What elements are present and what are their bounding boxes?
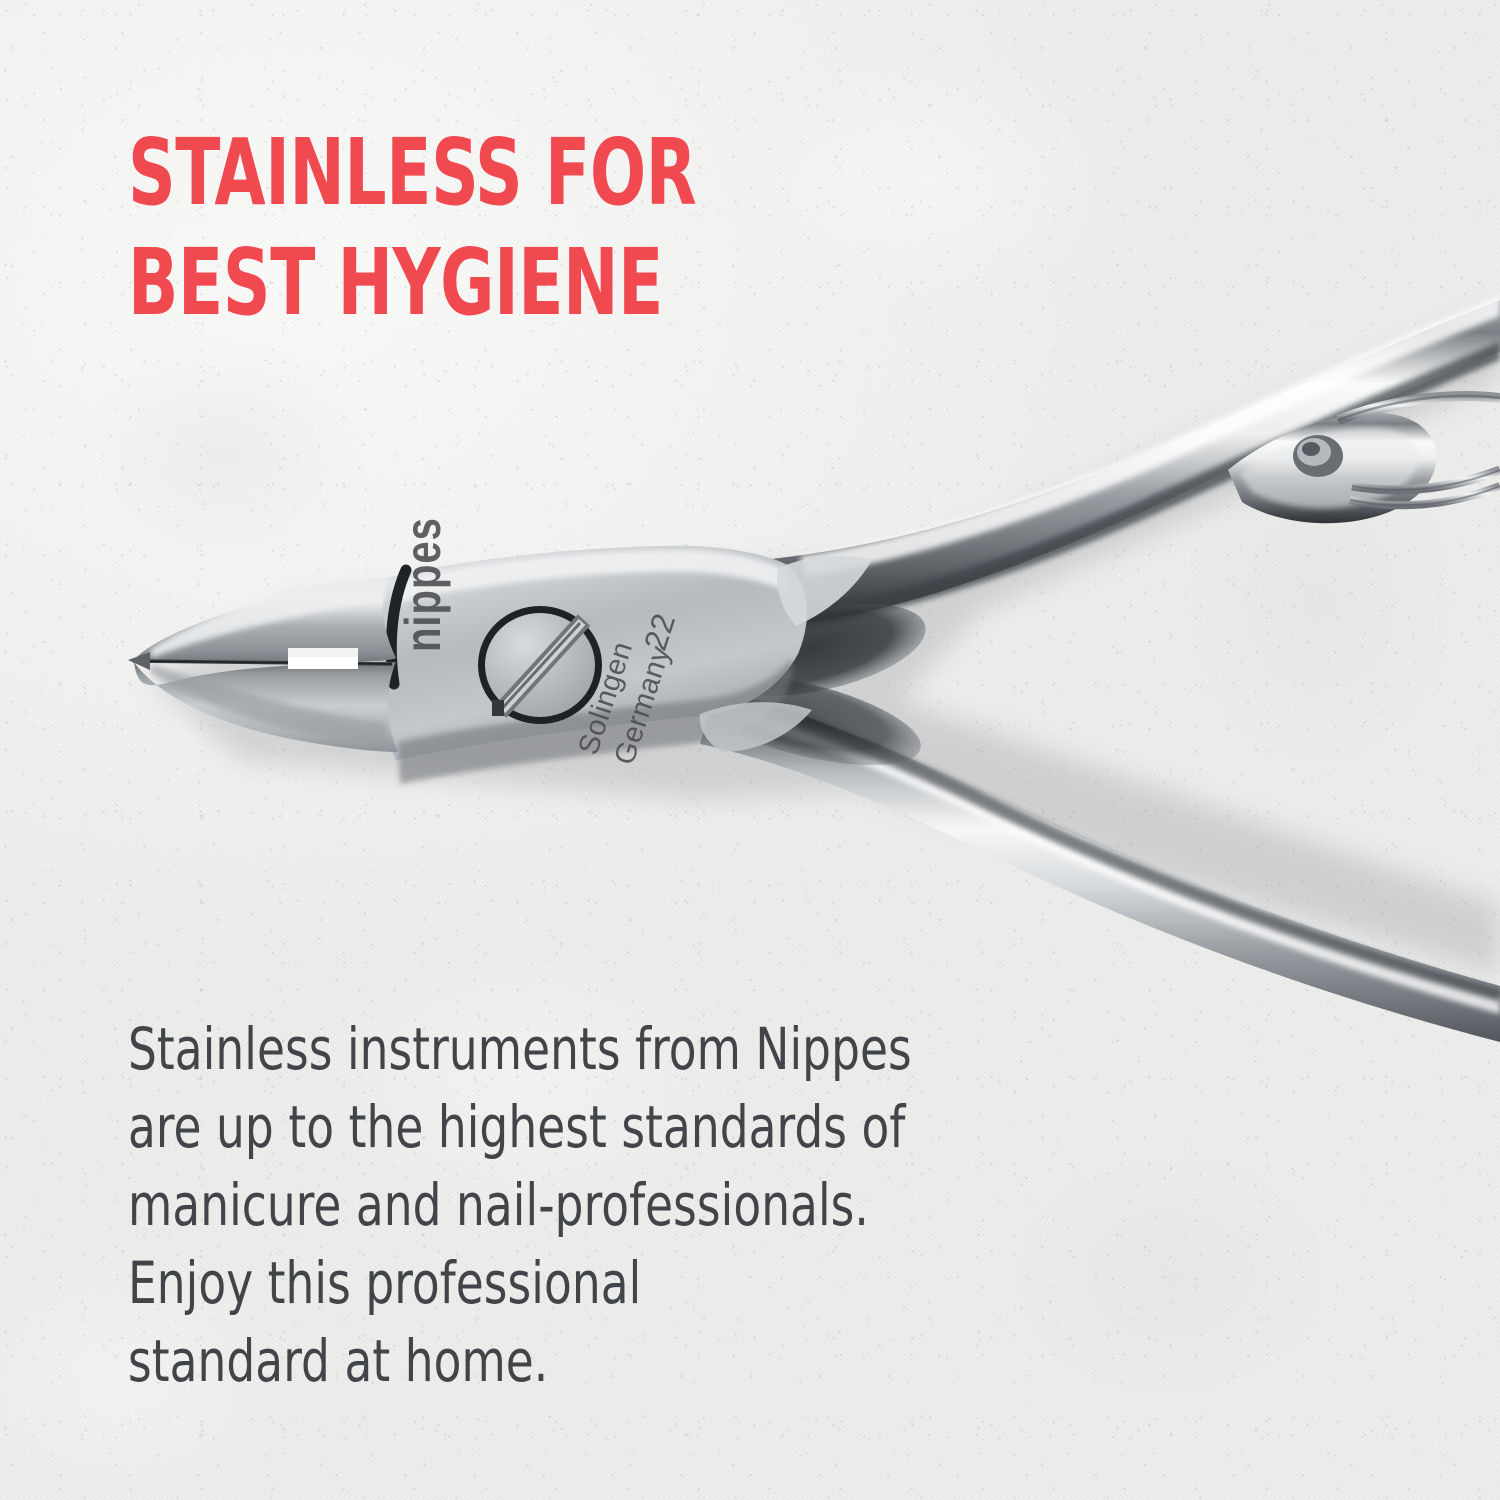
pivot-slot-end — [492, 700, 504, 716]
product-marketing-image: nippes Solingen Germany 22 STAINLESS FOR… — [0, 0, 1500, 1500]
body-copy: Stainless instruments from Nippes are up… — [128, 1010, 1128, 1400]
headline-line-1: STAINLESS FOR — [128, 118, 736, 228]
body-line-5: standard at home. — [128, 1322, 998, 1400]
body-line-4: Enjoy this professional — [128, 1244, 998, 1322]
cutting-jaw-group — [128, 576, 398, 752]
jaw-tip — [128, 652, 150, 670]
body-line-3: manicure and nail-professionals. — [128, 1166, 998, 1244]
headline-line-2: BEST HYGIENE — [128, 228, 736, 338]
body-line-2: are up to the highest standards of — [128, 1088, 998, 1166]
body-line-1: Stainless instruments from Nippes — [128, 1010, 998, 1088]
pivot-screw-group — [478, 606, 602, 724]
headline: STAINLESS FOR BEST HYGIENE — [128, 118, 888, 338]
